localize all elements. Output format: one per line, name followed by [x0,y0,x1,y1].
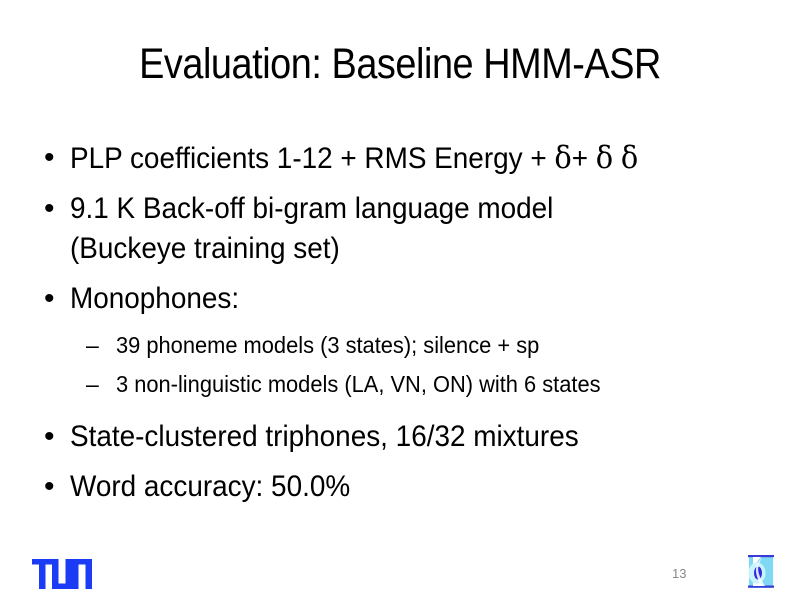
bullet-text-segment-mid: + [572,142,596,175]
bullet-text-line-1: 9.1 K Back-off bi-gram language model [70,189,553,229]
sub-bullet-item-non-linguistic-models: – 3 non-linguistic models (LA, VN, ON) w… [38,368,762,401]
sub-bullet-item-phoneme-models: – 39 phoneme models (3 states); silence … [38,329,762,362]
sub-bullet-text: 39 phoneme models (3 states); silence + … [116,329,539,362]
bullet-text: State-clustered triphones, 16/32 mixture… [70,417,579,457]
bullet-item-plp-coefficients: • PLP coefficients 1-12 + RMS Energy + δ… [38,138,762,179]
bullet-marker-icon: • [44,467,55,507]
bullet-text: PLP coefficients 1-12 + RMS Energy + δ+ … [70,138,638,179]
page-title: Evaluation: Baseline HMM-ASR [48,38,752,90]
delta-symbol: δ [621,140,638,176]
delta-symbol: δ [596,140,613,176]
bullet-marker-icon: • [44,189,55,229]
bullet-text: Monophones: [70,279,239,319]
sub-bullet-text: 3 non-linguistic models (LA, VN, ON) wit… [116,368,601,401]
bullet-marker-icon: • [44,138,55,178]
bullet-text-line-2: (Buckeye training set) [70,229,340,269]
bullet-text: Word accuracy: 50.0% [70,467,350,507]
bullet-item-word-accuracy: • Word accuracy: 50.0% [38,467,762,507]
spacer [38,407,762,417]
dash-marker-icon: – [86,368,99,401]
slide-number: 13 [672,566,686,582]
tum-logo-icon [32,559,92,589]
delta-symbol: δ [554,140,571,176]
bullet-marker-icon: • [44,279,55,319]
bullet-item-triphones: • State-clustered triphones, 16/32 mixtu… [38,417,762,457]
corner-logo-icon [745,553,785,595]
bullet-marker-icon: • [44,417,55,457]
dash-marker-icon: – [86,329,99,362]
bullet-item-language-model: • 9.1 K Back-off bi-gram language model … [38,189,762,269]
bullet-item-monophones: • Monophones: [38,279,762,319]
slide: Evaluation: Baseline HMM-ASR • PLP coeff… [0,0,800,599]
bullet-list: • PLP coefficients 1-12 + RMS Energy + δ… [38,138,762,515]
bullet-text-segment: PLP coefficients 1-12 + RMS Energy + [70,142,554,175]
